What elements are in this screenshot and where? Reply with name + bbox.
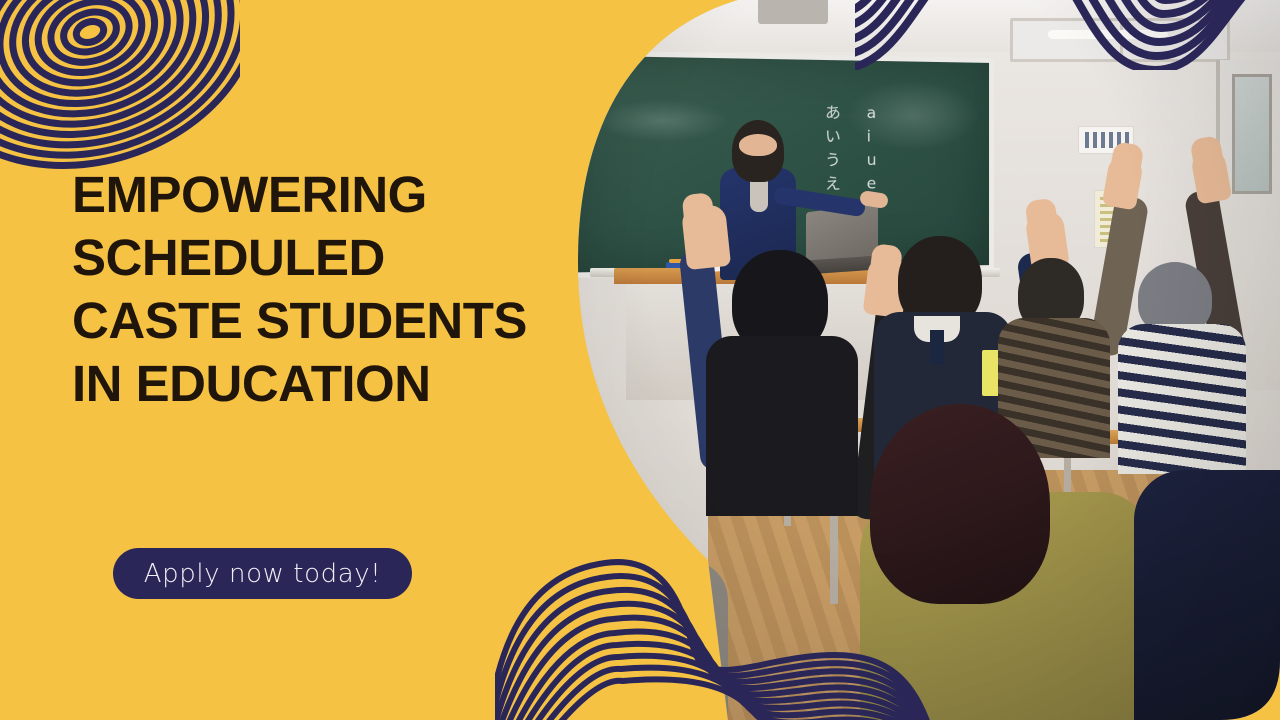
classroom-scene: あ a い i う u え e お o — [578, 0, 1280, 720]
photo-vignette — [578, 0, 1280, 720]
apply-now-button[interactable]: Apply now today! — [113, 548, 412, 599]
foreground-student-left — [578, 560, 728, 720]
page-title: EMPOWERING SCHEDULED CASTE STUDENTS IN E… — [72, 163, 542, 415]
education-banner: あ a い i う u え e お o — [0, 0, 1280, 720]
content-column: EMPOWERING SCHEDULED CASTE STUDENTS IN E… — [0, 0, 560, 720]
classroom-photo: あ a い i う u え e お o — [578, 0, 1280, 720]
